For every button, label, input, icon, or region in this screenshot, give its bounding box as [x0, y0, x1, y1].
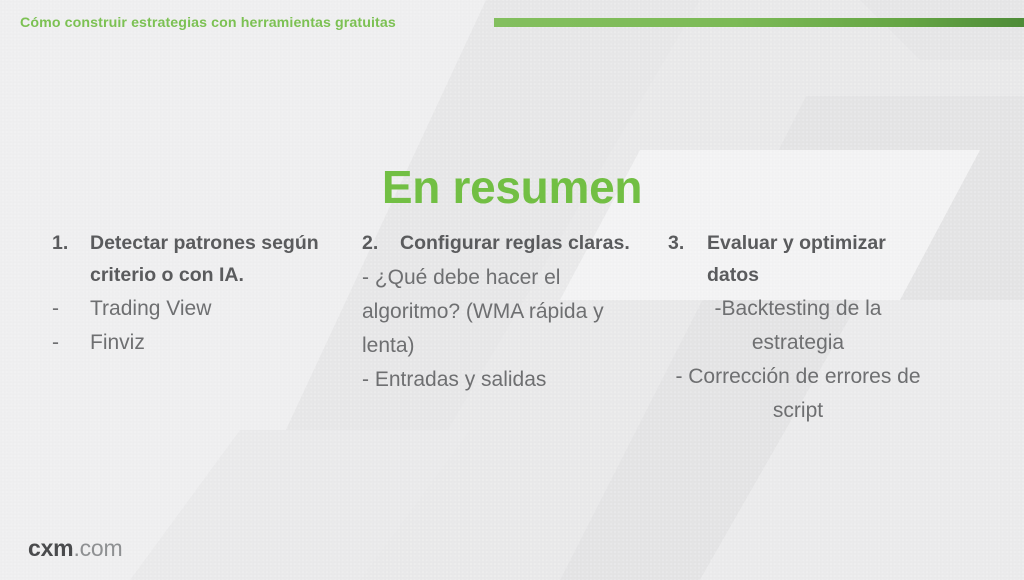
slide-header: Cómo construir estrategias con herramien… — [0, 0, 1024, 46]
column-1-headline-text: Detectar patrones según criterio o con I… — [90, 228, 342, 291]
list-item: - Corrección de errores de script — [668, 360, 928, 428]
bullet-text: Finviz — [90, 326, 342, 360]
column-1-number: 1. — [52, 228, 90, 260]
logo-tld: .com — [73, 535, 122, 561]
bullet-text: Trading View — [90, 292, 342, 326]
column-3-number: 3. — [668, 228, 707, 260]
slide: Cómo construir estrategias con herramien… — [0, 0, 1024, 580]
column-2-number: 2. — [362, 228, 400, 260]
header-title: Cómo construir estrategias con herramien… — [20, 15, 396, 31]
bullet-dash: - — [52, 292, 90, 326]
column-2-bullets: - ¿Qué debe hacer el algoritmo? (WMA ráp… — [362, 261, 642, 397]
list-item: - Entradas y salidas — [362, 363, 642, 397]
list-item: - Trading View — [52, 292, 342, 326]
summary-columns: 1. Detectar patrones según criterio o co… — [0, 228, 1024, 438]
column-1-bullets: - Trading View - Finviz — [52, 292, 342, 360]
brand-logo: cxm.com — [28, 535, 122, 562]
column-2-headline-text: Configurar reglas claras. — [400, 228, 642, 260]
summary-column-2: 2. Configurar reglas claras. - ¿Qué debe… — [362, 228, 642, 397]
bullet-dash: - — [52, 326, 90, 360]
list-item: -Backtesting de la estrategia — [668, 292, 928, 360]
summary-column-1: 1. Detectar patrones según criterio o co… — [52, 228, 342, 360]
page-title: En resumen — [0, 160, 1024, 214]
column-1-headline: 1. Detectar patrones según criterio o co… — [52, 228, 342, 291]
list-item: - ¿Qué debe hacer el algoritmo? (WMA ráp… — [362, 261, 642, 363]
column-3-bullets: -Backtesting de la estrategia - Correcci… — [668, 292, 928, 428]
column-3-headline-text: Evaluar y optimizar datos — [707, 228, 928, 291]
column-2-headline: 2. Configurar reglas claras. — [362, 228, 642, 260]
logo-mark: cxm — [28, 535, 73, 561]
list-item: - Finviz — [52, 326, 342, 360]
summary-column-3: 3. Evaluar y optimizar datos -Backtestin… — [668, 228, 928, 428]
header-accent-rule — [494, 18, 1024, 27]
column-3-headline: 3. Evaluar y optimizar datos — [668, 228, 928, 291]
